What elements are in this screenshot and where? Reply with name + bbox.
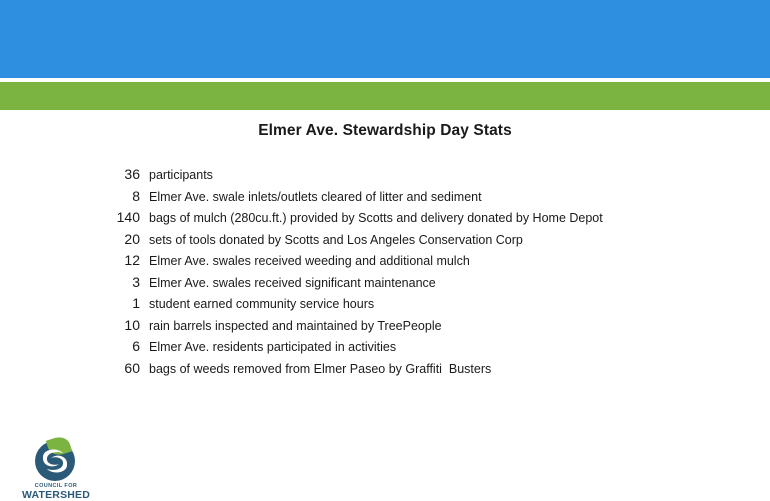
header-green-band [0,82,770,110]
stat-label: Elmer Ave. residents participated in act… [140,340,396,354]
stat-number: 60 [0,360,140,376]
list-item: 60 bags of weeds removed from Elmer Pase… [0,360,770,382]
list-item: 140 bags of mulch (280cu.ft.) provided b… [0,209,770,231]
list-item: 3 Elmer Ave. swales received significant… [0,274,770,296]
stat-label: Elmer Ave. swale inlets/outlets cleared … [140,190,482,204]
stat-number: 20 [0,231,140,247]
logo-water-swoosh-icon [39,445,71,477]
stat-number: 36 [0,166,140,182]
stat-label: Elmer Ave. swales received significant m… [140,276,436,290]
stat-label: student earned community service hours [140,297,374,311]
list-item: 36 participants [0,166,770,188]
stat-label: bags of weeds removed from Elmer Paseo b… [140,362,491,376]
list-item: 12 Elmer Ave. swales received weeding an… [0,252,770,274]
stat-number: 140 [0,209,140,225]
stat-number: 12 [0,252,140,268]
list-item: 8 Elmer Ave. swale inlets/outlets cleare… [0,188,770,210]
stat-label: participants [140,168,213,182]
stat-number: 8 [0,188,140,204]
stat-number: 3 [0,274,140,290]
stats-list: 36 participants 8 Elmer Ave. swale inlet… [0,166,770,381]
stat-label: bags of mulch (280cu.ft.) provided by Sc… [140,211,603,225]
page-title: Elmer Ave. Stewardship Day Stats [0,122,770,140]
list-item: 20 sets of tools donated by Scotts and L… [0,231,770,253]
council-for-watershed-logo: COUNCIL FOR WATERSHED [14,437,92,500]
logo-line2: WATERSHED [16,489,96,501]
stat-number: 10 [0,317,140,333]
stat-label: Elmer Ave. swales received weeding and a… [140,254,470,268]
slide-canvas: Elmer Ave. Stewardship Day Stats 36 part… [0,0,770,500]
stat-label: sets of tools donated by Scotts and Los … [140,233,523,247]
stat-number: 6 [0,338,140,354]
stat-number: 1 [0,295,140,311]
list-item: 6 Elmer Ave. residents participated in a… [0,338,770,360]
header-blue-band [0,0,770,78]
stat-label: rain barrels inspected and maintained by… [140,319,442,333]
list-item: 1 student earned community service hours [0,295,770,317]
list-item: 10 rain barrels inspected and maintained… [0,317,770,339]
